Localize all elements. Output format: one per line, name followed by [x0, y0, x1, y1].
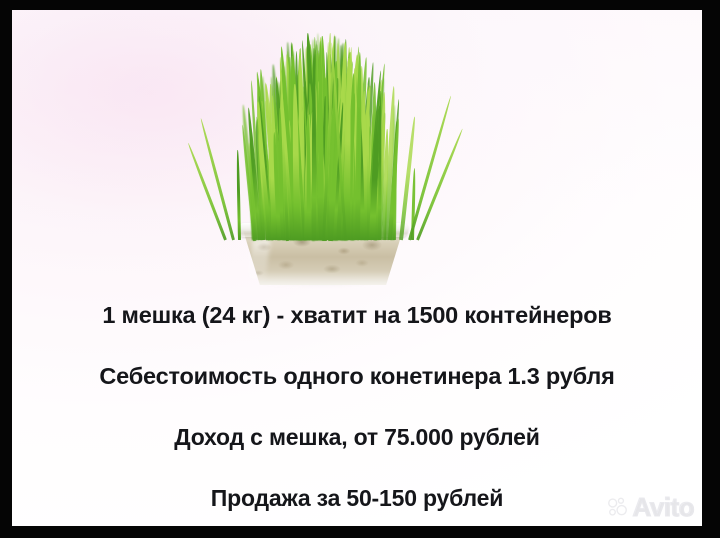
plant-photo [12, 10, 702, 282]
text-overlay-block: 1 мешка (24 кг) - хватит на 1500 контейн… [12, 282, 702, 526]
grass-blades [202, 18, 442, 240]
claim-line-2: Себестоимость одного конетинера 1.3 рубл… [12, 365, 702, 389]
grass-blade [236, 150, 241, 240]
wheatgrass-container-image [202, 18, 442, 280]
claim-line-3: Доход с мешка, от 75.000 рублей [12, 426, 702, 449]
claim-line-4: Продажа за 50-150 рублей [12, 487, 702, 510]
photo-frame: 1 мешка (24 кг) - хватит на 1500 контейн… [0, 0, 720, 538]
grass-blade [378, 91, 381, 240]
claim-line-1: 1 мешка (24 кг) - хватит на 1500 контейн… [12, 304, 702, 328]
photo-canvas: 1 мешка (24 кг) - хватит на 1500 контейн… [12, 10, 702, 526]
